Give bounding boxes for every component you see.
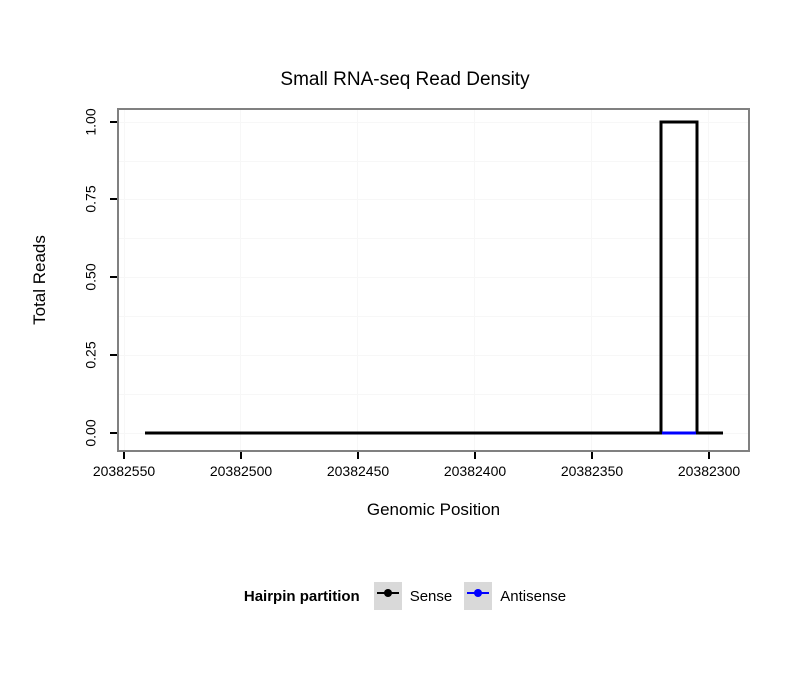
- legend-title: Hairpin partition: [244, 588, 360, 605]
- data-series-layer: [119, 110, 748, 450]
- x-tick-mark-0: [123, 452, 125, 459]
- x-axis-title: Genomic Position: [117, 500, 750, 520]
- y-tick-label-4: 1.00: [77, 114, 104, 130]
- plot-area: [119, 110, 748, 450]
- legend-key-antisense-icon: [464, 582, 492, 610]
- y-tick-label-3-text: 0.75: [82, 185, 98, 212]
- y-tick-mark-3: [110, 198, 117, 200]
- x-tick-label-0: 20382550: [93, 463, 155, 479]
- y-tick-mark-0: [110, 432, 117, 434]
- chart-figure: Small RNA-seq Read Density Total Reads 1…: [0, 0, 810, 690]
- y-axis-title-text: Total Reads: [30, 235, 50, 325]
- x-tick-label-4: 20382350: [561, 463, 623, 479]
- y-tick-label-1-text: 0.25: [82, 341, 98, 368]
- chart-legend: Hairpin partition Sense Antisense: [0, 582, 810, 610]
- legend-entry-sense[interactable]: Sense: [374, 582, 453, 610]
- x-tick-mark-4: [591, 452, 593, 459]
- x-tick-mark-3: [474, 452, 476, 459]
- legend-label-antisense: Antisense: [500, 588, 566, 605]
- y-tick-label-0-text: 0.00: [82, 419, 98, 446]
- x-tick-mark-2: [357, 452, 359, 459]
- y-tick-label-3: 0.75: [77, 191, 104, 207]
- x-tick-label-5: 20382300: [678, 463, 740, 479]
- y-tick-label-0: 0.00: [77, 425, 104, 441]
- legend-label-sense: Sense: [410, 588, 453, 605]
- y-tick-mark-1: [110, 354, 117, 356]
- y-tick-mark-4: [110, 121, 117, 123]
- plot-panel: [117, 108, 750, 452]
- legend-entry-antisense[interactable]: Antisense: [464, 582, 566, 610]
- x-tick-mark-1: [240, 452, 242, 459]
- y-tick-label-1: 0.25: [77, 347, 104, 363]
- y-tick-label-2: 0.50: [77, 269, 104, 285]
- series-line-sense: [145, 122, 723, 433]
- x-tick-mark-5: [708, 452, 710, 459]
- y-tick-label-4-text: 1.00: [82, 108, 98, 135]
- chart-title: Small RNA-seq Read Density: [0, 68, 810, 92]
- y-tick-mark-2: [110, 276, 117, 278]
- x-tick-label-2: 20382450: [327, 463, 389, 479]
- x-tick-label-3: 20382400: [444, 463, 506, 479]
- x-tick-label-1: 20382500: [210, 463, 272, 479]
- legend-key-sense-icon: [374, 582, 402, 610]
- y-tick-label-2-text: 0.50: [82, 263, 98, 290]
- y-axis-title: Total Reads: [28, 108, 52, 452]
